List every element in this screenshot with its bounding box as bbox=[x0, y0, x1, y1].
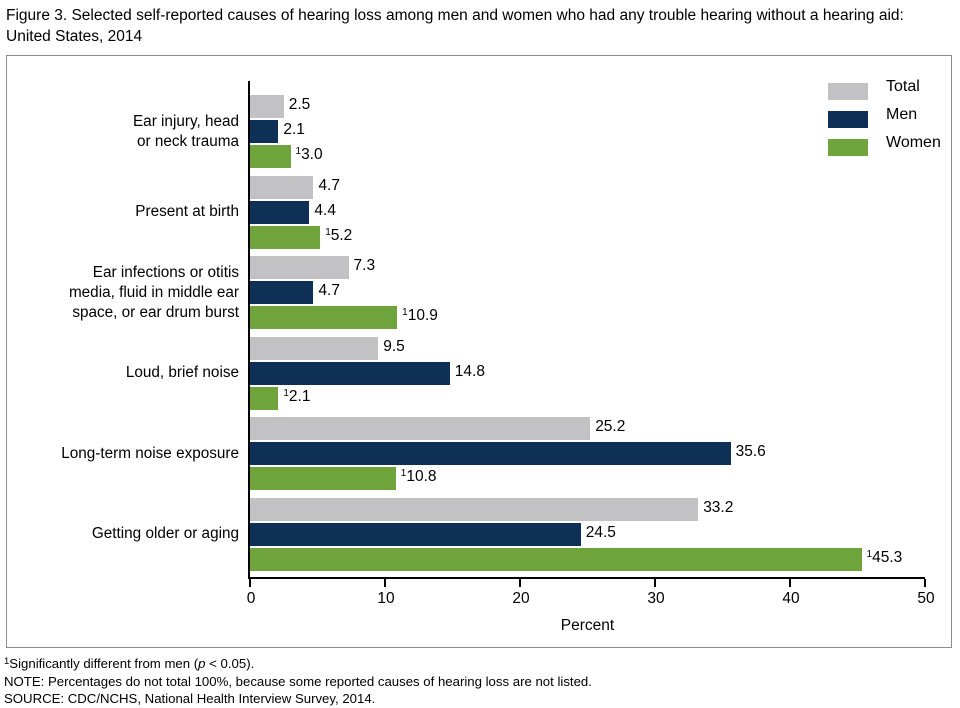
bar-row: 15.2 bbox=[250, 226, 935, 249]
bar-row: 24.5 bbox=[250, 523, 935, 546]
bar-women[interactable] bbox=[250, 548, 862, 571]
footnotes: 1Significantly different from men (p < 0… bbox=[4, 655, 944, 708]
category-label: Loud, brief noise bbox=[0, 363, 239, 383]
category-label: Getting older or aging bbox=[0, 524, 239, 544]
footnote-significance-p: p bbox=[198, 656, 205, 671]
legend-label-women: Women bbox=[886, 134, 941, 152]
bar-row: 7.3 bbox=[250, 256, 935, 279]
bar-men[interactable] bbox=[250, 120, 278, 143]
bar-total[interactable] bbox=[250, 337, 378, 360]
bar-value-label: 110.8 bbox=[401, 468, 437, 486]
x-tick-label-20: 20 bbox=[491, 590, 551, 608]
x-tick-40 bbox=[789, 579, 791, 587]
significance-marker: 1 bbox=[283, 388, 289, 399]
bar-value-label: 7.3 bbox=[354, 257, 376, 275]
chart-inner: 01020304050 Percent Ear injury, heador n… bbox=[7, 56, 951, 647]
bar-total[interactable] bbox=[250, 498, 698, 521]
significance-marker: 1 bbox=[325, 227, 331, 238]
x-tick-10 bbox=[384, 579, 386, 587]
category-label-line: Long-term noise exposure bbox=[0, 444, 239, 464]
significance-marker: 1 bbox=[867, 549, 873, 560]
bar-total[interactable] bbox=[250, 95, 284, 118]
x-axis-title: Percent bbox=[248, 617, 927, 635]
bar-row: 145.3 bbox=[250, 548, 935, 571]
x-tick-0 bbox=[249, 579, 251, 587]
bar-row: 35.6 bbox=[250, 442, 935, 465]
footnote-note: NOTE: Percentages do not total 100%, bec… bbox=[4, 673, 944, 691]
bar-women[interactable] bbox=[250, 226, 320, 249]
category-label-line: space, or ear drum burst bbox=[0, 303, 239, 323]
x-axis-line bbox=[248, 577, 925, 579]
chart-plot-area: 01020304050 Percent Ear injury, heador n… bbox=[6, 55, 952, 648]
bar-value-label: 9.5 bbox=[383, 338, 405, 356]
bar-row: 12.1 bbox=[250, 387, 935, 410]
footnote-significance-post: < 0.05). bbox=[206, 656, 255, 671]
bar-row: 110.8 bbox=[250, 467, 935, 490]
x-tick-label-40: 40 bbox=[761, 590, 821, 608]
legend-swatch-total bbox=[828, 83, 868, 100]
bar-row: 110.9 bbox=[250, 306, 935, 329]
category-label-line: Present at birth bbox=[0, 202, 239, 222]
bar-value-label: 2.1 bbox=[283, 121, 305, 139]
bar-row: 9.5 bbox=[250, 337, 935, 360]
significance-marker: 1 bbox=[402, 307, 408, 318]
bar-women[interactable] bbox=[250, 467, 396, 490]
x-tick-20 bbox=[519, 579, 521, 587]
category-label-line: Getting older or aging bbox=[0, 524, 239, 544]
bar-value-label: 35.6 bbox=[736, 443, 766, 461]
bar-total[interactable] bbox=[250, 176, 313, 199]
category-label: Ear injury, heador neck trauma bbox=[0, 112, 239, 152]
bar-men[interactable] bbox=[250, 201, 309, 224]
category-label-line: Ear infections or otitis bbox=[0, 263, 239, 283]
bar-row: 33.2 bbox=[250, 498, 935, 521]
footnote-source: SOURCE: CDC/NCHS, National Health Interv… bbox=[4, 690, 944, 708]
x-tick-label-30: 30 bbox=[626, 590, 686, 608]
bar-men[interactable] bbox=[250, 523, 581, 546]
category-label: Long-term noise exposure bbox=[0, 444, 239, 464]
bar-women[interactable] bbox=[250, 306, 397, 329]
legend-label-total: Total bbox=[886, 78, 920, 96]
bar-row: 4.4 bbox=[250, 201, 935, 224]
bar-value-label: 4.7 bbox=[318, 177, 340, 195]
bar-value-label: 33.2 bbox=[703, 499, 733, 517]
bar-row: 4.7 bbox=[250, 176, 935, 199]
bar-value-label: 4.4 bbox=[314, 202, 336, 220]
bar-men[interactable] bbox=[250, 362, 450, 385]
category-label-line: or neck trauma bbox=[0, 132, 239, 152]
bar-total[interactable] bbox=[250, 256, 349, 279]
x-tick-label-0: 0 bbox=[221, 590, 281, 608]
bar-men[interactable] bbox=[250, 281, 313, 304]
page-title: Figure 3. Selected self-reported causes … bbox=[6, 5, 936, 47]
bar-value-label: 15.2 bbox=[325, 227, 352, 245]
legend-swatch-women bbox=[828, 139, 868, 156]
category-label-line: Loud, brief noise bbox=[0, 363, 239, 383]
bar-value-label: 24.5 bbox=[586, 524, 616, 542]
significance-marker: 1 bbox=[296, 146, 302, 157]
category-label-line: media, fluid in middle ear bbox=[0, 283, 239, 303]
footnote-significance-pre: Significantly different from men ( bbox=[9, 656, 198, 671]
category-label: Present at birth bbox=[0, 202, 239, 222]
x-tick-50 bbox=[924, 579, 926, 587]
bar-row: 14.8 bbox=[250, 362, 935, 385]
bar-total[interactable] bbox=[250, 417, 590, 440]
bar-value-label: 25.2 bbox=[595, 418, 625, 436]
bar-value-label: 13.0 bbox=[296, 146, 323, 164]
footnote-significance: 1Significantly different from men (p < 0… bbox=[4, 655, 944, 673]
significance-marker: 1 bbox=[401, 468, 407, 479]
bar-value-label: 4.7 bbox=[318, 282, 340, 300]
bar-value-label: 14.8 bbox=[455, 363, 485, 381]
x-tick-label-10: 10 bbox=[356, 590, 416, 608]
bar-men[interactable] bbox=[250, 442, 731, 465]
category-label: Ear infections or otitismedia, fluid in … bbox=[0, 263, 239, 323]
bar-women[interactable] bbox=[250, 387, 278, 410]
bar-value-label: 12.1 bbox=[283, 388, 310, 406]
x-tick-30 bbox=[654, 579, 656, 587]
x-tick-label-50: 50 bbox=[896, 590, 956, 608]
legend-swatch-men bbox=[828, 111, 868, 128]
bar-row: 25.2 bbox=[250, 417, 935, 440]
bar-value-label: 110.9 bbox=[402, 307, 438, 325]
legend-label-men: Men bbox=[886, 106, 917, 124]
bar-row: 4.7 bbox=[250, 281, 935, 304]
bar-value-label: 145.3 bbox=[867, 549, 903, 567]
bar-value-label: 2.5 bbox=[289, 96, 311, 114]
category-label-line: Ear injury, head bbox=[0, 112, 239, 132]
bar-women[interactable] bbox=[250, 145, 291, 168]
